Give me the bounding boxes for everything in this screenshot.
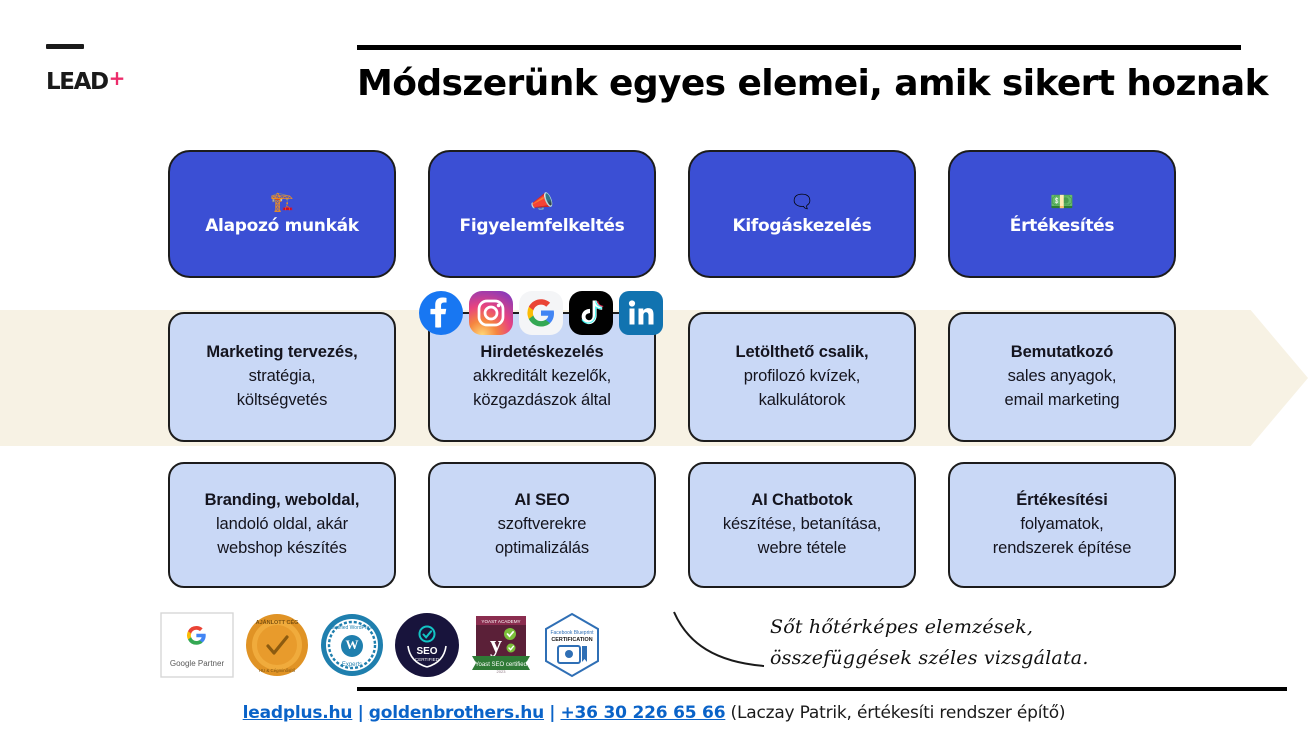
detail-card-1-mid-body: stratégia, költségvetés [227, 365, 338, 413]
linkedin-icon[interactable] [618, 290, 664, 336]
detail-card-1-bottom[interactable]: Branding, weboldal, landoló oldal, akár … [168, 462, 396, 588]
pillar-card-2[interactable]: 📣 Figyelemfelkeltés [428, 150, 656, 278]
detail-card-2-bottom-bold: AI SEO [514, 489, 569, 513]
detail-card-4-mid-bold: Bemutatkozó [1011, 341, 1114, 365]
detail-card-2-mid-bold: Hirdetéskezelés [480, 341, 603, 365]
footer-link-goldenbrothers[interactable]: goldenbrothers.hu [369, 703, 544, 723]
wordpress-experts-badge[interactable]: W Certified WordPress Experts [320, 613, 384, 677]
footer-separator-2: | [549, 703, 555, 723]
svg-text:W: W [346, 637, 359, 652]
logo-text: LEAD [46, 71, 108, 94]
instagram-icon[interactable] [468, 290, 514, 336]
ajanlott-ceg-badge[interactable]: AJÁNLOTT CÉG HU & Cégminősítő [244, 612, 310, 678]
svg-text:Yoast SEO certified: Yoast SEO certified [475, 662, 527, 668]
brand-logo: LEAD+ [46, 44, 166, 108]
footer-rule [357, 687, 1287, 691]
speech-balloon-icon: 🗨 [790, 193, 814, 212]
svg-text:Certified WordPress: Certified WordPress [330, 625, 375, 631]
handwritten-note-line2: összefüggések széles vizsgálata. [770, 643, 1089, 674]
detail-card-3-bottom-bold: AI Chatbotok [751, 489, 852, 513]
note-pointer-curve [668, 608, 778, 678]
footer-phone[interactable]: +36 30 226 65 66 [560, 703, 725, 723]
svg-text:HU & Cégminősítő: HU & Cégminősítő [259, 668, 296, 673]
facebook-blueprint-badge[interactable]: Facebook Blueprint CERTIFICATION [542, 612, 602, 678]
tiktok-icon[interactable] [568, 290, 614, 336]
pillar-title-2: Figyelemfelkeltés [460, 216, 625, 236]
svg-text:CERTIFICATION: CERTIFICATION [551, 637, 592, 643]
google-icon[interactable] [518, 290, 564, 336]
footer-contact: leadplus.hu | goldenbrothers.hu | +36 30… [0, 703, 1308, 723]
detail-card-2-bottom[interactable]: AI SEO szoftverekre optimalizálás [428, 462, 656, 588]
handwritten-note-line1: Sőt hőtérképes elemzések, [770, 612, 1089, 643]
detail-card-2-mid-body: akkreditált kezelők, közgazdászok által [463, 365, 621, 413]
svg-text:Experts: Experts [342, 662, 362, 668]
detail-card-3-mid-bold: Letölthető csalik, [736, 341, 869, 365]
svg-text:Facebook Blueprint: Facebook Blueprint [550, 630, 594, 636]
page-title: Módszerünk egyes elemei, amik sikert hoz… [357, 63, 1257, 104]
detail-card-2-bottom-body: szoftverekre optimalizálás [485, 513, 599, 561]
footer-link-leadplus[interactable]: leadplus.hu [243, 703, 353, 723]
pillar-title-1: Alapozó munkák [205, 216, 359, 236]
detail-card-1-bottom-body: landoló oldal, akár webshop készítés [206, 513, 358, 561]
detail-card-1-bottom-bold: Branding, weboldal, [205, 489, 360, 513]
handwritten-note: Sőt hőtérképes elemzések, összefüggések … [770, 612, 1089, 675]
detail-card-1-mid[interactable]: Marketing tervezés, stratégia, költségve… [168, 312, 396, 442]
logo-dash [46, 44, 84, 49]
svg-text:YOAST ACADEMY: YOAST ACADEMY [481, 619, 520, 624]
detail-card-3-mid-body: profilozó kvízek, kalkulátorok [734, 365, 871, 413]
detail-card-3-bottom[interactable]: AI Chatbotok készítése, betanítása, webr… [688, 462, 916, 588]
pillar-title-3: Kifogáskezelés [733, 216, 872, 236]
pillar-card-4[interactable]: 💵 Értékesítés [948, 150, 1176, 278]
banknote-icon: 💵 [1050, 193, 1074, 212]
logo-plus-icon: + [109, 68, 124, 88]
footer-separator-1: | [358, 703, 364, 723]
svg-text:SEO: SEO [416, 646, 437, 657]
detail-card-4-bottom-body: folyamatok, rendszerek építése [983, 513, 1142, 561]
seo-certified-badge[interactable]: SEO CERTIFIED [394, 612, 460, 678]
facebook-icon[interactable] [418, 290, 464, 336]
detail-card-4-mid[interactable]: Bemutatkozó sales anyagok, email marketi… [948, 312, 1176, 442]
footer-contact-person: (Laczay Patrik, értékesíti rendszer épít… [731, 703, 1066, 723]
detail-card-4-bottom-bold: Értékesítési [1016, 489, 1107, 513]
pillar-title-4: Értékesítés [1010, 216, 1114, 236]
construction-icon: 🏗️ [270, 193, 294, 212]
certification-badge-row: Google Partner AJÁNLOTT CÉG HU & Cégminő… [160, 612, 602, 678]
google-partner-badge[interactable]: Google Partner [160, 612, 234, 678]
svg-text:Google Partner: Google Partner [170, 659, 225, 668]
megaphone-icon: 📣 [530, 193, 554, 212]
social-platform-row [418, 290, 664, 336]
yoast-seo-badge[interactable]: YOAST ACADEMY y Yoast SEO certified 2023 [470, 612, 532, 678]
svg-text:2023: 2023 [497, 669, 507, 674]
detail-card-4-mid-body: sales anyagok, email marketing [995, 365, 1130, 413]
detail-card-3-bottom-body: készítése, betanítása, webre tétele [713, 513, 891, 561]
logo-wordmark: LEAD+ [46, 71, 166, 94]
detail-card-3-mid[interactable]: Letölthető csalik, profilozó kvízek, kal… [688, 312, 916, 442]
header-rule [357, 45, 1241, 50]
slide-root: LEAD+ Módszerünk egyes elemei, amik sike… [0, 0, 1308, 746]
svg-text:y: y [490, 632, 502, 658]
pillar-card-1[interactable]: 🏗️ Alapozó munkák [168, 150, 396, 278]
detail-card-1-mid-bold: Marketing tervezés, [206, 341, 357, 365]
detail-card-4-bottom[interactable]: Értékesítési folyamatok, rendszerek épít… [948, 462, 1176, 588]
svg-text:AJÁNLOTT CÉG: AJÁNLOTT CÉG [256, 618, 299, 626]
svg-text:CERTIFIED: CERTIFIED [415, 657, 440, 662]
pillar-card-3[interactable]: 🗨 Kifogáskezelés [688, 150, 916, 278]
